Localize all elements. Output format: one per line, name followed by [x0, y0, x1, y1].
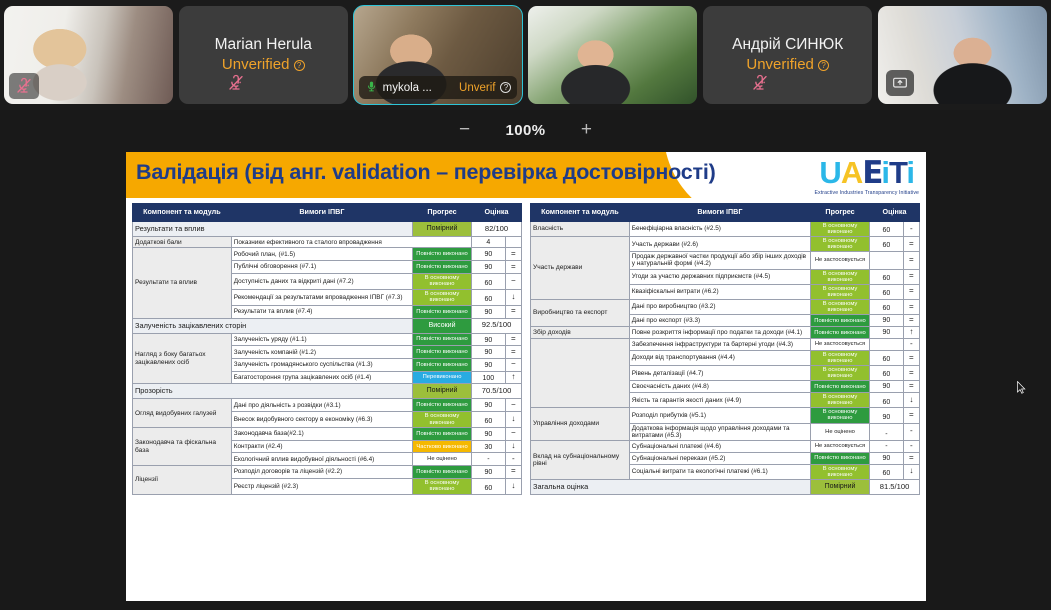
row-progress: В основному виконано: [811, 350, 870, 365]
table-row: Результати та впливРобочий план, (#1.5)П…: [133, 248, 522, 261]
uaeiti-logo: UAEiTi Extractive Industries Transparenc…: [814, 157, 919, 196]
row-trend: =: [903, 350, 919, 365]
conference-screen: Marian HerulaUnverified ?mykola ...Unver…: [0, 0, 1051, 610]
logo-letter-i2: i: [906, 155, 914, 190]
row-requirement: Соціальні витрати та екологічні платежі …: [629, 464, 810, 479]
table-row: Участь державиУчасть держави (#2.6)В осн…: [531, 237, 920, 252]
participant-name-block: Marian HerulaUnverified ?: [215, 35, 312, 74]
row-score: 90: [870, 452, 904, 464]
row-progress: В основному виконано: [811, 284, 870, 299]
table-row: Вклад на субнаціональному рівніСубнаціон…: [531, 440, 920, 452]
row-component: Огляд видобувних галузей: [133, 399, 232, 428]
mic-off-indicator: [9, 73, 39, 99]
section-progress: Високий: [413, 318, 472, 333]
row-progress: Частково виконано: [413, 440, 472, 453]
row-requirement: Доходи від транспортування (#4.4): [629, 350, 810, 365]
row-requirement: Залученість компаній (#1.2): [231, 346, 412, 359]
help-circle-icon: ?: [500, 82, 511, 93]
section-progress: Помірний: [811, 479, 870, 494]
row-score: 60: [870, 366, 904, 381]
participant-name: Marian Herula: [215, 35, 312, 55]
table-section-row: ПрозорістьПомірний70.5/100: [133, 384, 522, 399]
row-score: 60: [870, 299, 904, 314]
col-score: Оцінка: [870, 204, 920, 222]
zoom-level-value: 100%: [506, 122, 546, 139]
row-requirement: Контракти (#2.4): [231, 440, 412, 453]
participant-tile-6[interactable]: [878, 6, 1047, 104]
row-progress: В основному виконано: [811, 464, 870, 479]
participant-name-block: Андрій СИНЮКUnverified ?: [732, 35, 843, 74]
section-score: 81.5/100: [870, 479, 920, 494]
col-component: Компонент та модуль: [531, 204, 630, 222]
section-progress: Помірний: [413, 384, 472, 399]
section-label: Результати та вплив: [133, 222, 413, 237]
row-score: -: [870, 423, 904, 440]
row-trend: =: [903, 284, 919, 299]
table-row: Виробництво та експортДані про виробницт…: [531, 299, 920, 314]
row-progress: В основному виконано: [811, 269, 870, 284]
row-component: Управління доходами: [531, 408, 630, 441]
logo-letter-t: T: [889, 155, 906, 190]
row-trend: =: [903, 237, 919, 252]
row-trend: =: [903, 252, 919, 269]
row-requirement: Дані про виробництво (#3.2): [629, 299, 810, 314]
row-trend: −: [505, 428, 521, 441]
shared-slide[interactable]: Валідація (від анг. validation – перевір…: [126, 152, 926, 601]
table-header-row: Компонент та модуль Вимоги ІПВГ Прогрес …: [133, 204, 522, 222]
row-score: 90: [472, 466, 506, 479]
col-requirements: Вимоги ІПВГ: [231, 204, 412, 222]
row-trend: ↓: [903, 464, 919, 479]
row-requirement: Рекомендації за результатами впровадженн…: [231, 289, 412, 305]
validation-table-right: Компонент та модуль Вимоги ІПВГ Прогрес …: [530, 203, 920, 495]
row-trend: ↓: [505, 412, 521, 428]
row-component: Ліцензії: [133, 466, 232, 495]
row-score: 90: [472, 346, 506, 359]
table-row: Додаткові балиПоказники ефективного та с…: [133, 237, 522, 248]
row-trend: =: [505, 466, 521, 479]
row-progress: Не застосовується: [811, 339, 870, 351]
row-score: 100: [472, 371, 506, 384]
row-requirement: Дані про діяльність з розвідки (#3.1): [231, 399, 412, 412]
row-requirement: Квазіфіскальні витрати (#6.2): [629, 284, 810, 299]
section-label: Загальна оцінка: [531, 479, 811, 494]
mic-off-indicator: [227, 74, 249, 96]
row-requirement: Якість та гарантія якості даних (#4.9): [629, 393, 810, 408]
row-requirement: Субнаціональні платежі (#4.6): [629, 440, 810, 452]
row-progress: В основному виконано: [811, 237, 870, 252]
row-progress: Повністю виконано: [413, 466, 472, 479]
row-requirement: Своєчасність даних (#4.8): [629, 381, 810, 393]
row-score: 60: [870, 269, 904, 284]
row-requirement: Публічні обговорення (#7.1): [231, 261, 412, 274]
zoom-controls: − 100% +: [0, 110, 1051, 150]
section-score: 92.5/100: [472, 318, 522, 333]
row-progress: Повністю виконано: [413, 428, 472, 441]
row-trend: ↓: [903, 393, 919, 408]
row-requirement: Повне розкриття інформації про податки т…: [629, 327, 810, 339]
section-score: 82/100: [472, 222, 522, 237]
mic-on-icon: [365, 80, 378, 93]
row-score: 90: [870, 381, 904, 393]
validation-table-left: Компонент та модуль Вимоги ІПВГ Прогрес …: [132, 203, 522, 495]
row-trend: =: [505, 346, 521, 359]
row-progress: Повністю виконано: [413, 399, 472, 412]
row-component: Власність: [531, 222, 630, 237]
participant-verification: Unverified ?: [732, 55, 843, 74]
row-progress: В основному виконано: [413, 412, 472, 428]
row-progress: Повністю виконано: [413, 261, 472, 274]
row-trend: -: [903, 339, 919, 351]
row-score: 60: [870, 393, 904, 408]
participant-name: mykola ...: [383, 82, 454, 94]
row-score: 90: [472, 428, 506, 441]
row-component: Законодавча та фіскальна база: [133, 428, 232, 466]
row-requirement: Розподіл договорів та ліцензій (#2.2): [231, 466, 412, 479]
row-progress: Не оцінено: [811, 423, 870, 440]
table-section-row: Залученість зацікавлених сторінВисокий92…: [133, 318, 522, 333]
logo-letter-e: E: [862, 155, 881, 191]
row-requirement: Рівень деталізації (#4.7): [629, 366, 810, 381]
row-component: Результати та вплив: [133, 248, 232, 318]
row-requirement: Продаж державної частки продукції або зб…: [629, 252, 810, 269]
participant-tile-4[interactable]: [528, 6, 697, 104]
row-progress: Повністю виконано: [811, 327, 870, 339]
row-progress: Повністю виконано: [413, 248, 472, 261]
row-trend: =: [505, 305, 521, 318]
mic-off-indicator: [751, 74, 773, 96]
participant-name: Андрій СИНЮК: [732, 35, 843, 55]
row-score: 60: [870, 222, 904, 237]
logo-letter-i1: i: [881, 155, 889, 190]
mic-on-indicator: [365, 80, 378, 96]
section-label: Залученість зацікавлених сторін: [133, 318, 413, 333]
participant-name-pill: mykola ...Unverif?: [359, 76, 518, 99]
table-row: ЛіцензіїРозподіл договорів та ліцензій (…: [133, 466, 522, 479]
col-progress: Прогрес: [413, 204, 472, 222]
participant-video-feed: [528, 6, 697, 104]
row-requirement: Внесок видобувного сектору в економіку (…: [231, 412, 412, 428]
row-component: Виробництво та експорт: [531, 299, 630, 326]
table-row: Нагляд з боку багатьох зацікавлених осіб…: [133, 333, 522, 346]
row-trend: =: [903, 408, 919, 423]
row-score: 4: [472, 237, 506, 248]
help-circle-icon: ?: [294, 60, 305, 71]
row-requirement: Забезпечення інфраструктури та бартерні …: [629, 339, 810, 351]
zoom-in-button[interactable]: +: [575, 119, 597, 141]
row-progress: Повністю виконано: [413, 359, 472, 372]
table-row: Законодавча та фіскальна базаЗаконодавча…: [133, 428, 522, 441]
row-trend: -: [903, 440, 919, 452]
row-progress: В основному виконано: [811, 222, 870, 237]
share-screen-icon: [892, 75, 908, 91]
participant-tile-5[interactable]: Андрій СИНЮКUnverified ?: [703, 6, 872, 104]
row-trend: =: [903, 269, 919, 284]
row-trend: [505, 237, 521, 248]
col-component: Компонент та модуль: [133, 204, 232, 222]
row-score: 90: [472, 248, 506, 261]
row-score: 90: [472, 359, 506, 372]
row-requirement: Бенефіціарна власність (#2.5): [629, 222, 810, 237]
row-trend: −: [505, 273, 521, 289]
table-header-row: Компонент та модуль Вимоги ІПВГ Прогрес …: [531, 204, 920, 222]
row-score: 60: [472, 478, 506, 494]
row-score: 60: [870, 464, 904, 479]
row-trend: =: [903, 452, 919, 464]
row-trend: =: [903, 299, 919, 314]
row-score: 60: [472, 289, 506, 305]
col-score: Оцінка: [472, 204, 522, 222]
row-progress: В основному виконано: [811, 299, 870, 314]
participant-video-strip: Marian HerulaUnverified ?mykola ...Unver…: [0, 0, 1051, 110]
zoom-out-button[interactable]: −: [454, 119, 476, 141]
row-requirement: Залученість громадянського суспільства (…: [231, 359, 412, 372]
row-score: [870, 252, 904, 269]
row-trend: =: [505, 333, 521, 346]
row-progress: Не оцінено: [413, 453, 472, 466]
row-trend: ↑: [505, 371, 521, 384]
row-score: 30: [472, 440, 506, 453]
row-progress: Повністю виконано: [413, 333, 472, 346]
row-progress: Повністю виконано: [811, 381, 870, 393]
col-requirements: Вимоги ІПВГ: [629, 204, 810, 222]
logo-letter-a: A: [841, 155, 862, 190]
section-progress: Помірний: [413, 222, 472, 237]
row-requirement: Участь держави (#2.6): [629, 237, 810, 252]
row-score: 60: [870, 237, 904, 252]
participant-verification: Unverified ?: [215, 55, 312, 74]
row-progress: В основному виконано: [811, 393, 870, 408]
row-component: Нагляд з боку багатьох зацікавлених осіб: [133, 333, 232, 384]
row-score: 60: [472, 273, 506, 289]
slide-tables: Компонент та модуль Вимоги ІПВГ Прогрес …: [126, 198, 926, 495]
row-component: Збір доходів: [531, 327, 630, 339]
slide-title: Валідація (від анг. validation – перевір…: [136, 160, 716, 185]
table-row: Забезпечення інфраструктури та бартерні …: [531, 339, 920, 351]
row-trend: =: [505, 261, 521, 274]
row-requirement: Екологічний вплив видобувної діяльності …: [231, 453, 412, 466]
row-trend: ↓: [505, 478, 521, 494]
row-requirement: Робочий план, (#1.5): [231, 248, 412, 261]
participant-tile-3[interactable]: mykola ...Unverif?: [354, 6, 523, 104]
row-trend: -: [903, 222, 919, 237]
row-score: [870, 339, 904, 351]
row-trend: =: [903, 381, 919, 393]
help-circle-icon: ?: [818, 60, 829, 71]
row-score: 60: [870, 350, 904, 365]
row-trend: ↑: [903, 327, 919, 339]
row-score: 90: [870, 315, 904, 327]
row-trend: −: [505, 399, 521, 412]
row-trend: =: [903, 366, 919, 381]
row-requirement: Багатостороння група зацікавлених осіб (…: [231, 371, 412, 384]
table-row: Огляд видобувних галузейДані про діяльні…: [133, 399, 522, 412]
row-trend: ↓: [505, 289, 521, 305]
row-trend: −: [505, 359, 521, 372]
row-progress: В основному виконано: [811, 366, 870, 381]
row-progress: Перевиконано: [413, 371, 472, 384]
row-requirement: Реєстр ліцензій (#2.3): [231, 478, 412, 494]
participant-tile-1[interactable]: [4, 6, 173, 104]
row-progress: В основному виконано: [811, 408, 870, 423]
row-component: [531, 339, 630, 408]
table-section-row: Результати та впливПомірний82/100: [133, 222, 522, 237]
row-requirement: Законодавча база(#2.1): [231, 428, 412, 441]
mic-off-icon: [227, 74, 245, 92]
participant-verification: Unverif: [459, 82, 495, 94]
col-progress: Прогрес: [811, 204, 870, 222]
row-progress: Повністю виконано: [413, 305, 472, 318]
row-score: -: [472, 453, 506, 466]
slide-title-band: Валідація (від анг. validation – перевір…: [126, 152, 926, 198]
table-row: Збір доходівПовне розкриття інформації п…: [531, 327, 920, 339]
share-screen-button[interactable]: [886, 70, 914, 96]
logo-tagline: Extractive Industries Transparency Initi…: [814, 190, 919, 196]
row-trend: =: [505, 248, 521, 261]
row-trend: -: [903, 423, 919, 440]
row-score: 90: [870, 408, 904, 423]
row-trend: ↓: [505, 440, 521, 453]
row-progress: В основному виконано: [413, 478, 472, 494]
section-label: Прозорість: [133, 384, 413, 399]
section-score: 70.5/100: [472, 384, 522, 399]
row-progress: Повністю виконано: [811, 452, 870, 464]
participant-tile-2[interactable]: Marian HerulaUnverified ?: [179, 6, 348, 104]
row-score: 90: [472, 333, 506, 346]
row-requirement: Дані про експорт (#3.3): [629, 315, 810, 327]
row-progress: Повністю виконано: [811, 315, 870, 327]
row-score: 90: [870, 327, 904, 339]
table-row: Управління доходамиРозподіл прибутків (#…: [531, 408, 920, 423]
row-progress: В основному виконано: [413, 273, 472, 289]
row-score: 90: [472, 261, 506, 274]
row-requirement: Угоди за участю державних підприємств (#…: [629, 269, 810, 284]
mic-off-icon: [15, 77, 33, 95]
table-section-row: Загальна оцінкаПомірний81.5/100: [531, 479, 920, 494]
row-trend: -: [505, 453, 521, 466]
mouse-cursor: [1017, 381, 1026, 394]
row-requirement: Субнаціональні перекази (#5.2): [629, 452, 810, 464]
row-requirement: Додаткова інформація щодо управління дох…: [629, 423, 810, 440]
row-component: Додаткові бали: [133, 237, 232, 248]
row-score: 90: [472, 305, 506, 318]
row-requirement: Результати та вплив (#7.4): [231, 305, 412, 318]
row-requirement: Залученість уряду (#1.1): [231, 333, 412, 346]
row-progress: Не застосовується: [811, 252, 870, 269]
row-requirement: Показники ефективного та сталого впровад…: [231, 237, 471, 248]
row-component: Участь держави: [531, 237, 630, 300]
row-score: 90: [472, 399, 506, 412]
table-row: ВласністьБенефіціарна власність (#2.5)В …: [531, 222, 920, 237]
row-requirement: Розподіл прибутків (#5.1): [629, 408, 810, 423]
row-progress: Не застосовується: [811, 440, 870, 452]
row-score: 60: [472, 412, 506, 428]
row-component: Вклад на субнаціональному рівні: [531, 440, 630, 479]
row-score: -: [870, 440, 904, 452]
mic-off-icon: [751, 74, 769, 92]
logo-letter-u: U: [819, 155, 840, 190]
row-score: 60: [870, 284, 904, 299]
row-progress: Повністю виконано: [413, 346, 472, 359]
row-requirement: Доступність даних та відкриті дані (#7.2…: [231, 273, 412, 289]
row-progress: В основному виконано: [413, 289, 472, 305]
row-trend: =: [903, 315, 919, 327]
